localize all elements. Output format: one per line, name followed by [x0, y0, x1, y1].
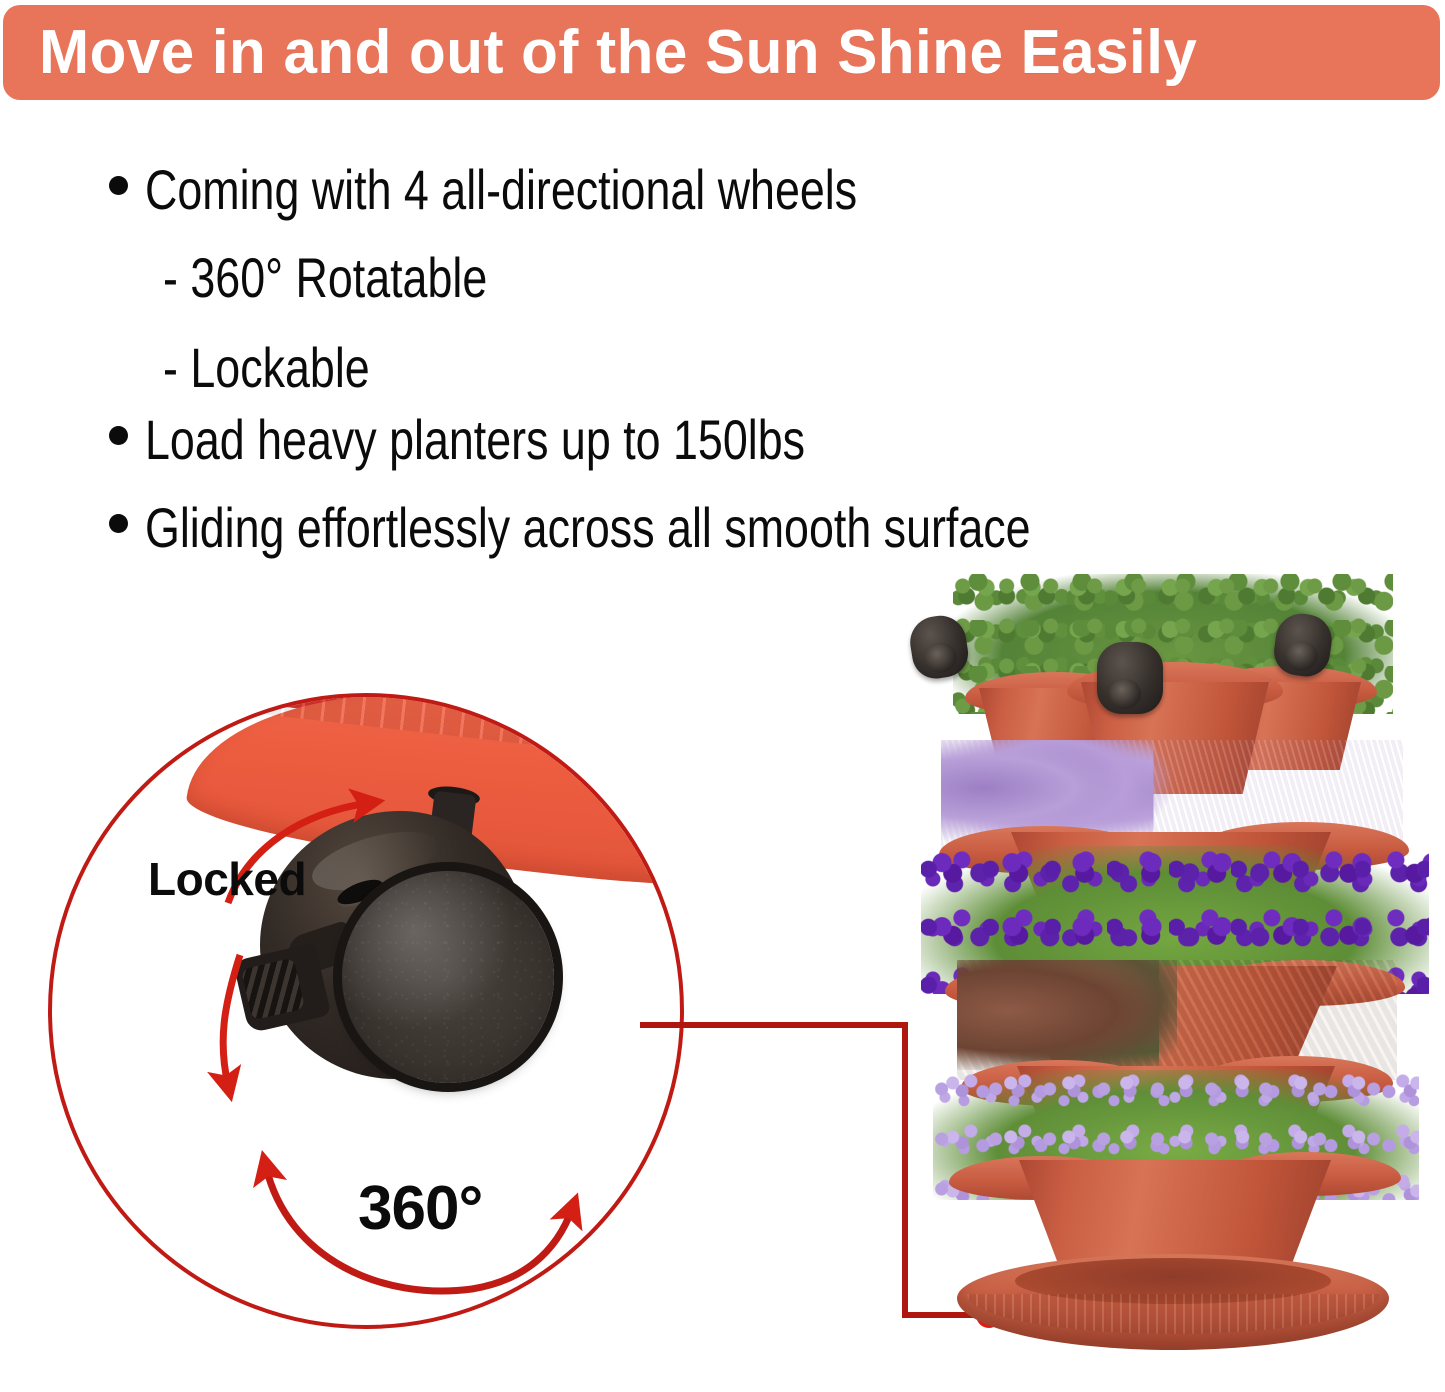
- bullet-icon: [109, 176, 128, 195]
- locked-down-arrow-icon: [223, 955, 240, 1085]
- feature-label: Coming with 4 all-directional wheels: [145, 162, 857, 218]
- feature-label: - 360° Rotatable: [163, 250, 487, 306]
- caster-callout: Locked 360°: [22, 676, 722, 1336]
- page-title: Move in and out of the Sun Shine Easily: [39, 22, 1197, 84]
- feature-item: Load heavy planters up to 150lbs: [109, 412, 970, 468]
- rotation-degree-label: 360°: [358, 1173, 482, 1244]
- caddy-caster-front: [1097, 642, 1163, 714]
- locked-label: Locked: [148, 852, 306, 906]
- feature-label: Load heavy planters up to 150lbs: [145, 412, 805, 468]
- feature-subitem: - Lockable: [163, 340, 421, 396]
- callout-circle-outline: Locked 360°: [48, 693, 684, 1329]
- header-banner: Move in and out of the Sun Shine Easily: [3, 5, 1440, 100]
- caddy-caster-left: [906, 612, 971, 682]
- feature-label: Gliding effortlessly across all smooth s…: [145, 500, 1031, 556]
- feature-item: Gliding effortlessly across all smooth s…: [109, 500, 1252, 556]
- feature-item: Coming with 4 all-directional wheels: [109, 162, 1035, 218]
- caddy-ribbing: [967, 1294, 1379, 1334]
- bullet-icon: [109, 514, 128, 533]
- rolling-plant-caddy: [957, 1254, 1389, 1350]
- pot-body-tier2-center: [1011, 832, 1331, 944]
- planter-tower-image: [905, 560, 1445, 1392]
- feature-label: - Lockable: [163, 340, 370, 396]
- bullet-icon: [109, 426, 128, 445]
- feature-subitem: - 360° Rotatable: [163, 250, 568, 306]
